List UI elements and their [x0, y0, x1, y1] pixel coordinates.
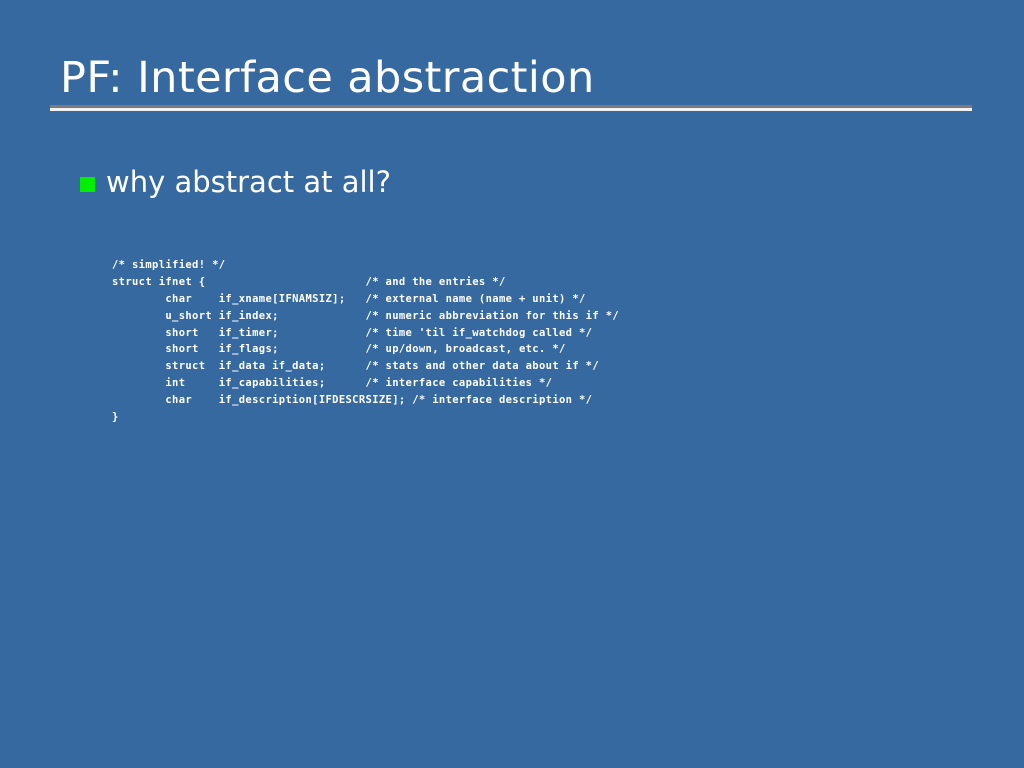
code-line: struct ifnet { /* and the entries */ [112, 274, 619, 291]
code-line: int if_capabilities; /* interface capabi… [112, 375, 619, 392]
code-line: u_short if_index; /* numeric abbreviatio… [112, 308, 619, 325]
rule-bottom-edge [50, 108, 972, 111]
code-line: short if_timer; /* time 'til if_watchdog… [112, 325, 619, 342]
code-line: struct if_data if_data; /* stats and oth… [112, 358, 619, 375]
code-line: /* simplified! */ [112, 257, 619, 274]
bullet-item-label: why abstract at all? [106, 163, 391, 201]
code-listing: /* simplified! */struct ifnet { /* and t… [112, 257, 619, 426]
code-line: char if_xname[IFNAMSIZ]; /* external nam… [112, 291, 619, 308]
slide-canvas: PF: Interface abstraction why abstract a… [0, 0, 1024, 768]
bullet-item: why abstract at all? [80, 163, 391, 201]
code-line: char if_description[IFDESCRSIZE]; /* int… [112, 392, 619, 409]
title-underline-rule [50, 105, 972, 111]
green-square-bullet-icon [80, 177, 95, 192]
code-line: short if_flags; /* up/down, broadcast, e… [112, 341, 619, 358]
page-title: PF: Interface abstraction [60, 52, 595, 104]
code-line: } [112, 409, 619, 426]
